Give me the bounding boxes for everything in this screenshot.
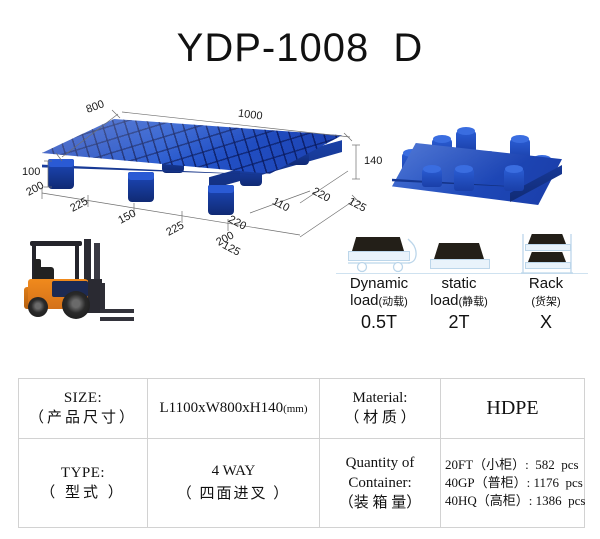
type-value-en: 4 WAY xyxy=(152,460,315,483)
load-label-line1: static xyxy=(424,275,494,292)
load-block xyxy=(528,234,566,244)
rack-shelf xyxy=(525,244,571,251)
material-label-en: Material: xyxy=(324,388,436,408)
forklift-rear-wheel xyxy=(28,297,48,317)
type-value-cn: （ 四面进叉 ） xyxy=(152,483,315,506)
cell-quantity-label: Quantity of Container: （装 箱 量） xyxy=(320,438,441,527)
size-label-en: SIZE: xyxy=(23,388,143,408)
qty-row-40hq: 40HQ（高柜）: 1386 pcs xyxy=(445,492,580,510)
load-spec-rack: Rack (货架) X xyxy=(504,233,588,333)
load-label-line2: load(动载) xyxy=(336,292,422,311)
specification-table: SIZE: （产品尺寸） L1100xW800xH140(mm) Materia… xyxy=(18,378,585,528)
qty-label-en2: Container: xyxy=(324,473,436,493)
material-label-cn: （ 材 质 ） xyxy=(324,408,436,428)
dim-label-140: 140 xyxy=(364,155,382,167)
load-value: X xyxy=(504,311,588,333)
pallet-underside-view xyxy=(392,117,562,217)
cell-type-value: 4 WAY （ 四面进叉 ） xyxy=(148,438,320,527)
qty-row-40gp: 40GP（普柜）: 1176 pcs xyxy=(445,474,580,492)
type-label-en: TYPE: xyxy=(23,463,143,483)
pallet-leg xyxy=(504,169,524,191)
load-spec-static: static load(静载) 2T xyxy=(424,233,494,333)
qty-label-cn: （装 箱 量） xyxy=(324,493,436,513)
type-label-cn: （ 型式 ） xyxy=(23,483,143,503)
cell-quantity-values: 20FT（小柜）: 582 pcs 40GP（普柜）: 1176 pcs 40H… xyxy=(441,438,585,527)
dynamic-load-icon xyxy=(336,233,422,275)
cell-size-value: L1100xW800xH140(mm) xyxy=(148,379,320,439)
load-block xyxy=(528,252,566,262)
load-value: 2T xyxy=(424,311,494,333)
cell-type-label: TYPE: （ 型式 ） xyxy=(19,438,148,527)
qty-row-20ft: 20FT（小柜）: 582 pcs xyxy=(445,456,580,474)
rack-shelf xyxy=(525,262,571,269)
table-row: TYPE: （ 型式 ） 4 WAY （ 四面进叉 ） Quantity of … xyxy=(19,438,585,527)
size-value: L1100xW800xH140 xyxy=(159,400,283,416)
forklift-fork-tine xyxy=(100,317,134,321)
cell-material-value: HDPE xyxy=(441,379,585,439)
forklift-illustration xyxy=(22,235,134,333)
pallet-leg xyxy=(454,169,474,191)
load-spec-dynamic: Dynamic load(动载) 0.5T xyxy=(336,233,422,333)
forklift-guard-post xyxy=(75,245,79,281)
size-value-unit: (mm) xyxy=(283,403,307,415)
table-row: SIZE: （产品尺寸） L1100xW800xH140(mm) Materia… xyxy=(19,379,585,439)
load-label-line1: Dynamic xyxy=(336,275,422,292)
load-value: 0.5T xyxy=(336,311,422,333)
product-illustration-area: 800 1000 100 140 200 225 150 225 200 125… xyxy=(0,95,600,345)
pallet-underside-highlight xyxy=(392,143,562,205)
load-label-line1: Rack xyxy=(504,275,588,292)
size-label-cn: （产品尺寸） xyxy=(23,408,143,428)
rack-load-icon xyxy=(504,233,588,275)
forklift-fork-tine xyxy=(100,309,134,313)
forklift-front-wheel xyxy=(62,291,90,319)
qty-label-en: Quantity of xyxy=(324,453,436,473)
dim-label-100: 100 xyxy=(22,166,40,178)
load-label-line2: (货架) xyxy=(504,292,588,311)
load-specification-group: Dynamic load(动载) 0.5T static load(静载) 2T xyxy=(336,233,588,333)
hand-truck-frame xyxy=(336,233,422,275)
page-title: YDP-1008 D xyxy=(0,26,600,71)
cell-material-label: Material: （ 材 质 ） xyxy=(320,379,441,439)
pallet-leg xyxy=(422,169,442,187)
load-label-line2: load(静载) xyxy=(424,292,494,311)
load-block xyxy=(434,243,484,259)
pallet-platform xyxy=(430,259,490,269)
static-load-icon xyxy=(424,233,494,275)
cell-size-label: SIZE: （产品尺寸） xyxy=(19,379,148,439)
